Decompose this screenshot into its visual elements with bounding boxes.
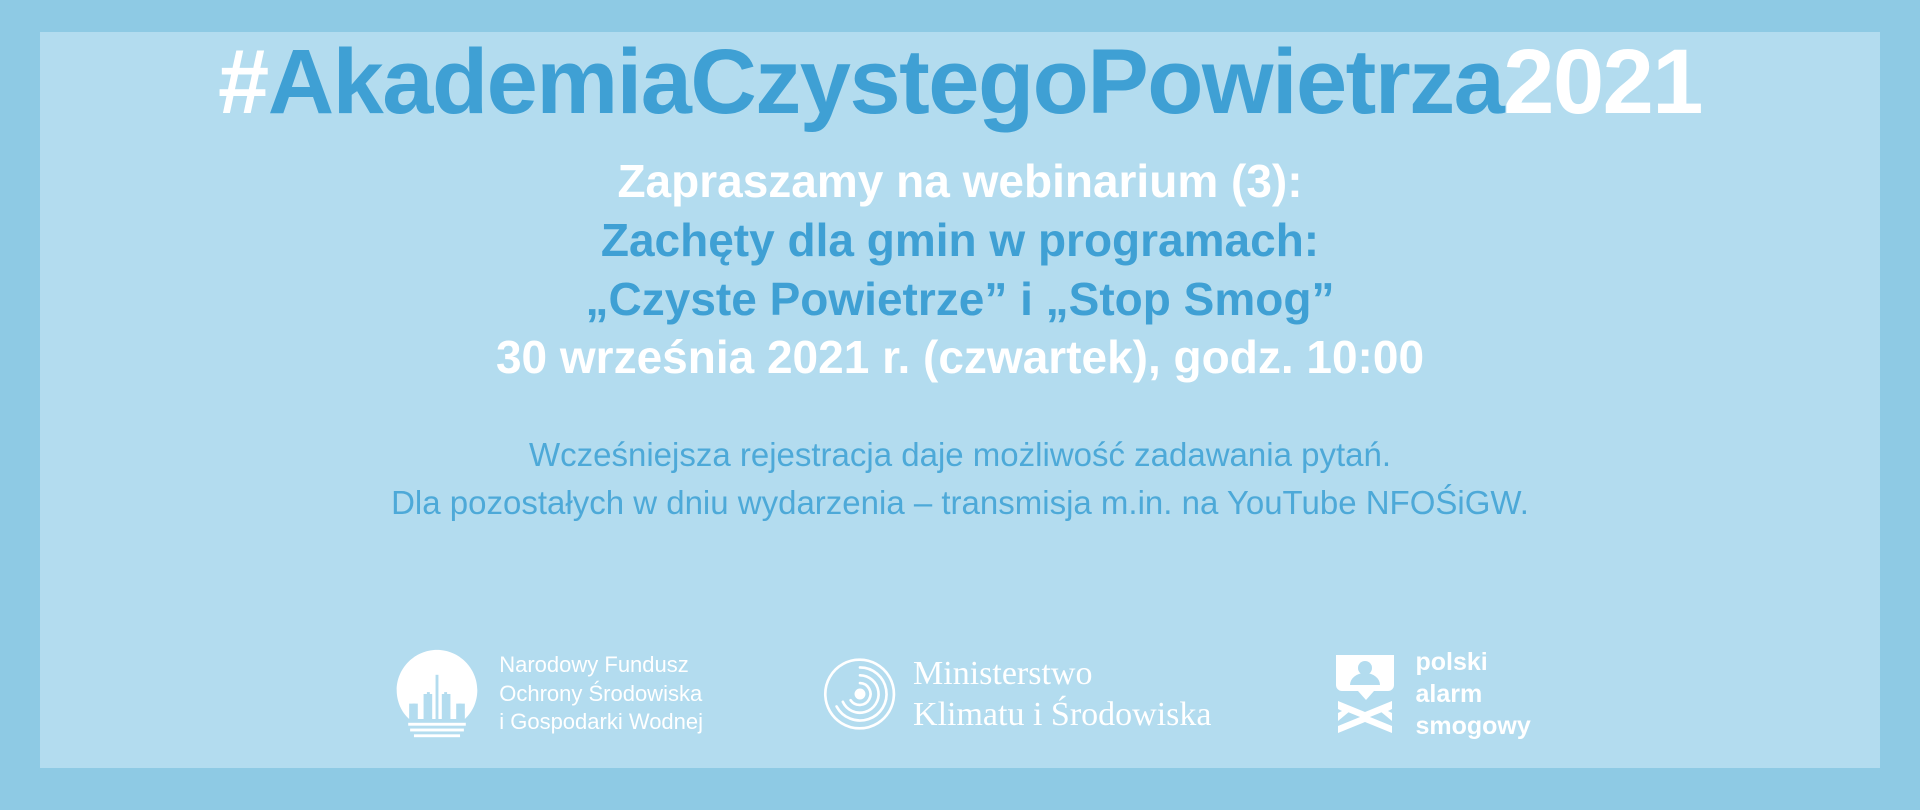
registration-note: Wcześniejsza rejestracja daje możliwość … <box>40 431 1880 527</box>
registration-note-line-2: Dla pozostałych w dniu wydarzenia – tran… <box>40 479 1880 527</box>
nfosigw-text-line-3: i Gospodarki Wodnej <box>499 708 703 737</box>
pas-text-line-3: smogowy <box>1415 710 1530 742</box>
event-datetime: 30 września 2021 r. (czwartek), godz. 10… <box>40 328 1880 387</box>
ministry-text-line-2: Klimatu i Środowiska <box>913 694 1211 735</box>
ministry-spiral-logo-icon <box>821 655 899 733</box>
pas-text-line-1: polski <box>1415 646 1530 678</box>
poster-panel: #AkademiaCzystegoPowietrza2021 Zapraszam… <box>40 32 1880 768</box>
polski-alarm-smogowy-logo-icon <box>1329 651 1401 737</box>
ministry-text-line-1: Ministerstwo <box>913 653 1211 694</box>
subtitle-block: Zapraszamy na webinarium (3): Zachęty dl… <box>40 152 1880 388</box>
subtitle-line-1: Zapraszamy na webinarium (3): <box>40 152 1880 211</box>
poster-root: #AkademiaCzystegoPowietrza2021 Zapraszam… <box>0 0 1920 810</box>
title-campaign: AkademiaCzystegoPowietrza <box>268 32 1504 133</box>
ministry-logo-text: Ministerstwo Klimatu i Środowiska <box>913 653 1211 736</box>
logo-ministerstwo-klimatu: Ministerstwo Klimatu i Środowiska <box>821 653 1211 736</box>
logo-strip: Narodowy Fundusz Ochrony Środowiska i Go… <box>40 646 1880 742</box>
title-hash: # <box>218 32 268 133</box>
subtitle-line-2: Zachęty dla gmin w programach: <box>40 211 1880 270</box>
registration-note-line-1: Wcześniejsza rejestracja daje możliwość … <box>40 431 1880 479</box>
page-title: #AkademiaCzystegoPowietrza2021 <box>40 36 1880 130</box>
title-year: 2021 <box>1503 32 1702 133</box>
nfosigw-text-line-1: Narodowy Fundusz <box>499 651 703 680</box>
subtitle-line-3: „Czyste Powietrze” i „Stop Smog” <box>40 270 1880 329</box>
nfosigw-logo-text: Narodowy Fundusz Ochrony Środowiska i Go… <box>499 651 703 737</box>
logo-polski-alarm-smogowy: polski alarm smogowy <box>1329 646 1530 742</box>
nfosigw-tree-logo-icon <box>389 646 485 742</box>
pas-text-line-2: alarm <box>1415 678 1530 710</box>
nfosigw-text-line-2: Ochrony Środowiska <box>499 680 703 709</box>
logo-nfosigw: Narodowy Fundusz Ochrony Środowiska i Go… <box>389 646 703 742</box>
polski-alarm-smogowy-text: polski alarm smogowy <box>1415 646 1530 742</box>
